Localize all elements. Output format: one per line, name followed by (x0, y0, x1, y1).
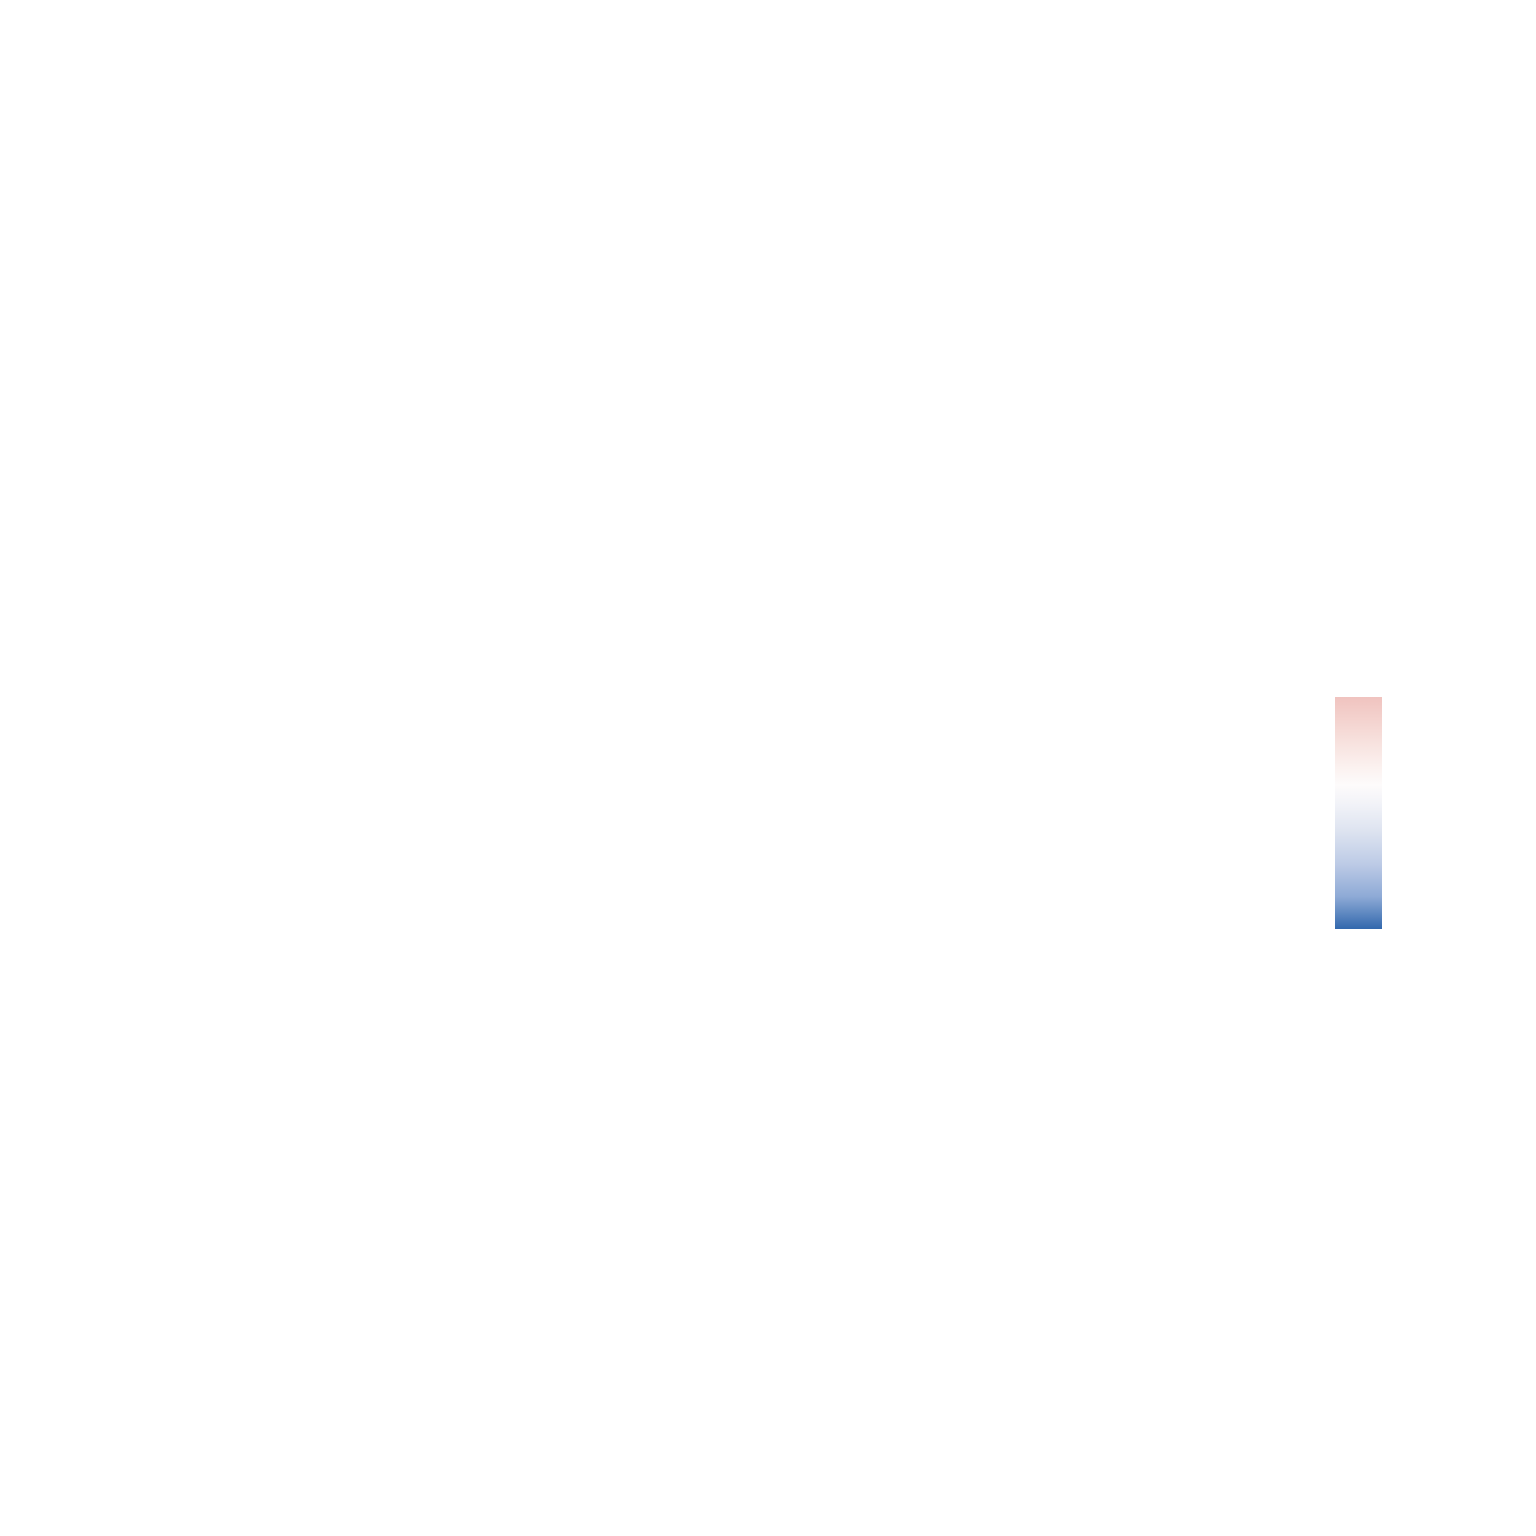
heatmap-canvas (48, 168, 1294, 1413)
legend (1330, 655, 1530, 955)
heatmap-panel (48, 168, 1294, 1413)
legend-colorbar (1335, 697, 1382, 929)
chart-root (0, 0, 1536, 1536)
